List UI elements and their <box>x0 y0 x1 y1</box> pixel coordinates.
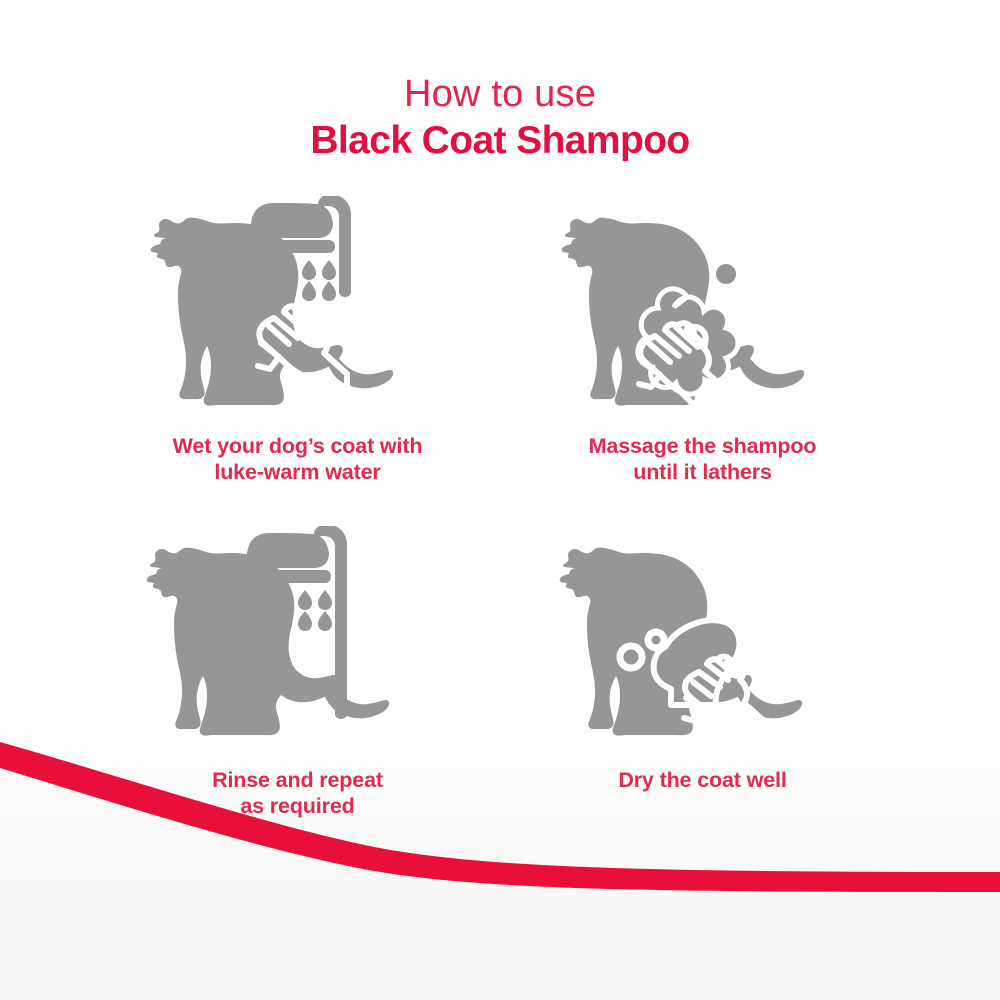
step-1-illustration <box>148 196 448 436</box>
step-4-illustration <box>557 526 857 766</box>
step-2-caption: Massage the shampoo until it lathers <box>500 433 905 485</box>
red-curve-swoosh <box>0 740 1000 1000</box>
step-2-illustration <box>559 196 859 436</box>
page-title: How to use Black Coat Shampoo <box>0 72 1000 164</box>
step-1-caption-line-1: Wet your dog’s coat with <box>95 433 500 459</box>
step-1-caption-line-2: luke-warm water <box>95 459 500 485</box>
title-line-1: How to use <box>0 72 1000 116</box>
title-line-2: Black Coat Shampoo <box>0 118 1000 164</box>
step-2-caption-line-1: Massage the shampoo <box>500 433 905 459</box>
step-panel-2: Massage the shampoo until it lathers <box>500 196 905 526</box>
swoosh-shape <box>0 742 1000 892</box>
infographic-canvas: How to use Black Coat Shampoo <box>0 0 1000 1000</box>
step-1-caption: Wet your dog’s coat with luke-warm water <box>95 433 500 485</box>
step-2-caption-line-2: until it lathers <box>500 459 905 485</box>
step-3-illustration <box>144 526 444 766</box>
step-panel-1: Wet your dog’s coat with luke-warm water <box>95 196 500 526</box>
